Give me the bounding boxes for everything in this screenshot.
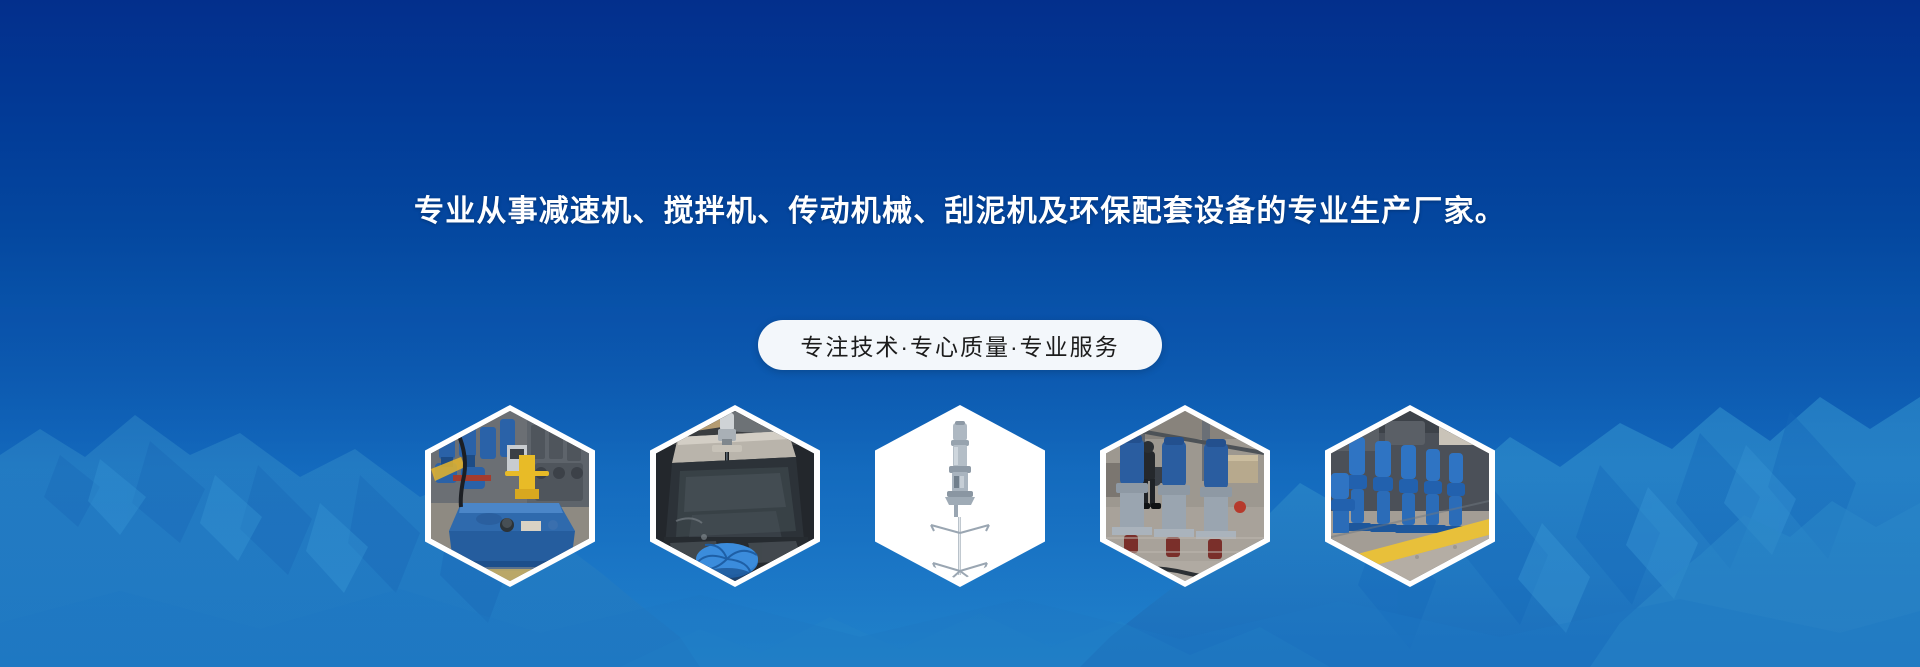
page-title: 专业从事减速机、搅拌机、传动机械、刮泥机及环保配套设备的专业生产厂家。 — [0, 186, 1920, 230]
hex-photo-agitator-product-image — [881, 411, 1039, 581]
slogan-container: 专注技术·专心质量·专业服务 — [0, 320, 1920, 370]
hexagon-gallery — [0, 405, 1920, 587]
hero-banner: 专业从事减速机、搅拌机、传动机械、刮泥机及环保配套设备的专业生产厂家。 专注技术… — [0, 0, 1920, 667]
hex-photo-agitator-product[interactable] — [875, 405, 1045, 587]
slogan-badge[interactable]: 专注技术·专心质量·专业服务 — [758, 320, 1161, 370]
hex-photo-gearbox-assembly-image — [431, 411, 589, 581]
hex-photo-gearbox-assembly[interactable] — [425, 405, 595, 587]
hex-photo-gearbox-array-image — [1331, 411, 1489, 581]
hex-photo-tank-mixer[interactable] — [650, 405, 820, 587]
hex-photo-gearbox-array[interactable] — [1325, 405, 1495, 587]
hex-photo-workshop-mixers-image — [1106, 411, 1264, 581]
hex-photo-tank-mixer-image — [656, 411, 814, 581]
hex-photo-workshop-mixers[interactable] — [1100, 405, 1270, 587]
